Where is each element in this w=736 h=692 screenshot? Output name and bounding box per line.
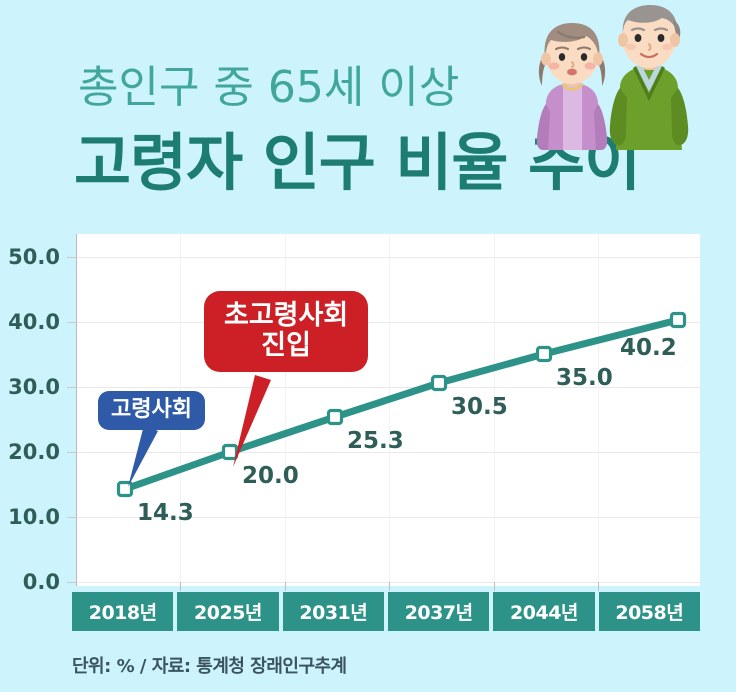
data-label-2037: 30.5 [451, 396, 508, 419]
data-point-marker [433, 377, 446, 390]
callout-aged-society: 고령사회 [98, 391, 205, 430]
data-label-2058: 40.2 [620, 337, 677, 360]
x-axis-category-2037[interactable]: 2037년 [388, 592, 489, 631]
header: 총인구 중 65세 이상 고령자 인구 비율 추이 [0, 0, 736, 225]
x-axis-category-2044[interactable]: 2044년 [493, 592, 594, 631]
footer-source-note: 단위: % / 자료: 통계청 장래인구추계 [72, 652, 347, 678]
x-axis-category-2025[interactable]: 2025년 [177, 592, 278, 631]
x-axis-category-2058[interactable]: 2058년 [599, 592, 700, 631]
x-axis-category-2018[interactable]: 2018년 [72, 592, 173, 631]
data-point-marker [672, 314, 685, 327]
woman-figure [537, 23, 607, 150]
man-figure [610, 5, 688, 150]
elderly-couple-illustration [524, 2, 700, 150]
callout-red-line2: 진입 [224, 331, 348, 361]
page-subtitle: 총인구 중 65세 이상 [78, 66, 459, 110]
x-axis-category-2031[interactable]: 2031년 [283, 592, 384, 631]
callout-red-line1: 초고령사회 [224, 301, 348, 331]
callout-red-tail [225, 375, 275, 475]
data-point-marker [538, 348, 551, 361]
callout-super-aged-society: 초고령사회 진입 [204, 291, 368, 372]
callout-blue-tail [120, 425, 160, 495]
x-axis-category-band: 2018년 2025년 2031년 2037년 2044년 2058년 [72, 592, 700, 631]
data-point-marker [329, 411, 342, 424]
data-label-2018: 14.3 [137, 502, 194, 525]
data-label-2044: 35.0 [556, 367, 613, 390]
data-label-2031: 25.3 [347, 430, 404, 453]
